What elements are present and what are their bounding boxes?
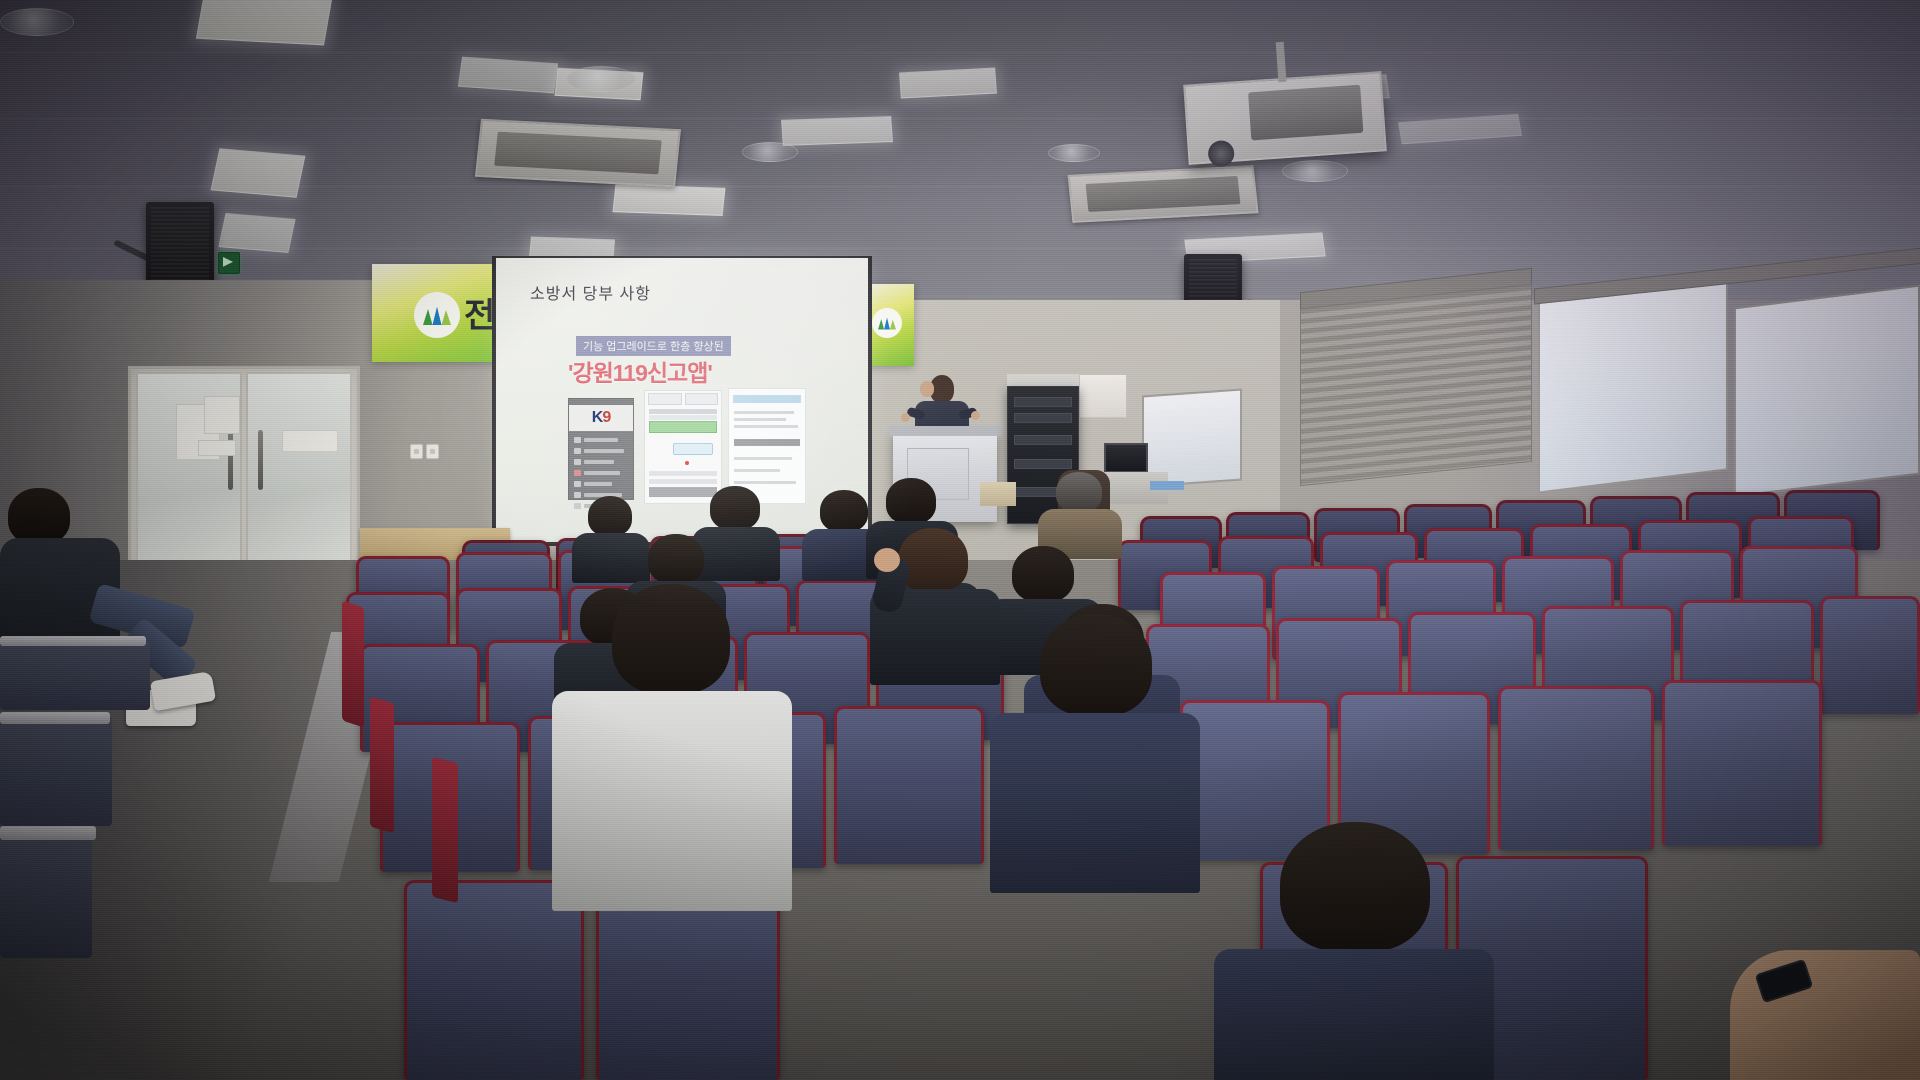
- door-handle[interactable]: [258, 430, 263, 490]
- rack-slot: [1014, 397, 1072, 407]
- flow-bar: [649, 415, 717, 420]
- ceiling-light-panel: [899, 67, 997, 98]
- podium-top: [889, 426, 1001, 436]
- flow-footer-bar: [649, 487, 717, 497]
- head: [588, 496, 632, 536]
- torso: [552, 691, 792, 911]
- wall-banner-text: 전: [464, 288, 493, 337]
- doc-text-line: [734, 425, 798, 428]
- side-bench: [0, 640, 150, 710]
- slide-banner-text: 기능 업그레이드로 한층 향상된: [576, 336, 731, 356]
- torso: [990, 713, 1200, 893]
- downlight-icon: [0, 8, 74, 36]
- gangwon-emblem-icon: [872, 308, 902, 338]
- ceiling-light-panel: [211, 148, 306, 198]
- presenter-hand: [901, 413, 910, 422]
- doc-highlight-bar: [734, 439, 800, 446]
- head: [710, 486, 760, 530]
- seat-armrest: [432, 757, 458, 903]
- auditorium-photo: 전 소방서 당부 사항 기능 업그레이드로 한층 향상된 '강원119신고앱' …: [0, 0, 1920, 1080]
- audience-member-foreground: [1040, 614, 1200, 893]
- flow-callout: [673, 443, 713, 455]
- door-handle[interactable]: [228, 430, 233, 490]
- head: [8, 488, 70, 544]
- k9-logo-icon: K9: [569, 405, 633, 431]
- hand-foreground: [1730, 950, 1920, 1080]
- seat[interactable]: [834, 706, 984, 864]
- slide-app-panel: K9: [568, 398, 634, 500]
- slide-title: 소방서 당부 사항: [530, 280, 651, 304]
- torso: [1214, 949, 1494, 1080]
- audience-member: [588, 496, 650, 583]
- list-item: [574, 437, 629, 443]
- flow-bar: [649, 409, 717, 414]
- doc-text-line: [734, 418, 786, 421]
- head: [648, 534, 704, 584]
- person-left-front: [0, 488, 120, 658]
- audience-member: [898, 528, 1000, 685]
- flow-bar: [649, 471, 717, 476]
- downlight-icon: [1048, 144, 1100, 162]
- wall-banner-left: 전: [372, 264, 500, 362]
- seat[interactable]: [1820, 596, 1920, 714]
- door-notice: [282, 430, 338, 452]
- bench-rail: [0, 826, 96, 840]
- control-monitor: [1104, 443, 1148, 473]
- seat[interactable]: [1498, 686, 1654, 850]
- presenter-head: [930, 375, 954, 403]
- seat-armrest: [342, 600, 364, 727]
- exit-sign: [218, 252, 240, 274]
- downlight-icon: [1282, 160, 1348, 182]
- flow-top-labels: [648, 393, 718, 405]
- air-conditioner-vent: [1067, 165, 1258, 223]
- head: [898, 528, 968, 592]
- window-blind[interactable]: [1300, 284, 1532, 486]
- flow-bar: [649, 479, 717, 484]
- rack-slot: [1014, 459, 1072, 469]
- k9-logo-number: 9: [602, 409, 610, 427]
- bench-rail: [0, 636, 146, 646]
- ceiling-light-panel: [613, 184, 726, 216]
- doc-text-line: [734, 411, 794, 414]
- ceiling-light-panel: [196, 0, 332, 45]
- list-item: [574, 470, 629, 476]
- projector-body: [1248, 85, 1363, 141]
- projection-screen: 소방서 당부 사항 기능 업그레이드로 한층 향상된 '강원119신고앱' K9: [496, 258, 868, 542]
- side-bench: [0, 838, 92, 958]
- door-notice: [198, 440, 236, 456]
- downlight-icon: [566, 66, 636, 92]
- doc-header-bar: [733, 395, 801, 403]
- rack-slot: [1014, 435, 1072, 445]
- cardboard-box: [980, 482, 1016, 506]
- ceiling-light-panel: [218, 213, 295, 253]
- presenter-face: [920, 381, 934, 397]
- window: [1538, 278, 1728, 493]
- head: [1012, 546, 1074, 602]
- door-notice: [204, 396, 240, 434]
- k9-logo-letter: K: [592, 409, 603, 427]
- doc-text-line: [734, 457, 792, 460]
- presenter-hand: [971, 411, 980, 420]
- doc-text-line: [734, 469, 780, 472]
- head: [1280, 822, 1430, 952]
- list-item: [574, 448, 629, 454]
- flow-label: [685, 393, 719, 405]
- seat[interactable]: [1662, 680, 1822, 846]
- window: [1734, 285, 1920, 498]
- gangwon-emblem-icon: [414, 292, 460, 338]
- raised-hand: [874, 548, 900, 572]
- list-item: [574, 481, 629, 487]
- side-bench: [0, 716, 112, 826]
- head: [820, 490, 868, 532]
- flow-highlight-row: [649, 421, 717, 433]
- power-outlet[interactable]: [426, 444, 439, 459]
- list-item: [574, 459, 629, 465]
- seat-armrest: [370, 697, 394, 834]
- head: [1040, 614, 1152, 716]
- flow-label: [648, 393, 682, 405]
- slide-headline-text: '강원119신고앱': [568, 354, 712, 388]
- audience-member-foreground: [1280, 822, 1494, 1080]
- head: [612, 584, 730, 694]
- torso: [572, 533, 650, 583]
- wall-board: [1079, 374, 1127, 418]
- air-conditioner-vent: [475, 119, 681, 187]
- head: [1056, 472, 1102, 512]
- blue-folder: [1150, 481, 1184, 490]
- flow-marker-icon: [685, 461, 689, 465]
- head: [886, 478, 936, 524]
- ceiling-light-panel: [781, 116, 893, 146]
- rack-slot: [1014, 413, 1072, 423]
- bench-rail: [0, 712, 110, 724]
- doc-text-line: [734, 481, 796, 484]
- audience-member-foreground: [612, 584, 792, 911]
- projector: [1183, 71, 1387, 165]
- power-outlet[interactable]: [410, 444, 423, 459]
- downlight-icon: [742, 142, 798, 162]
